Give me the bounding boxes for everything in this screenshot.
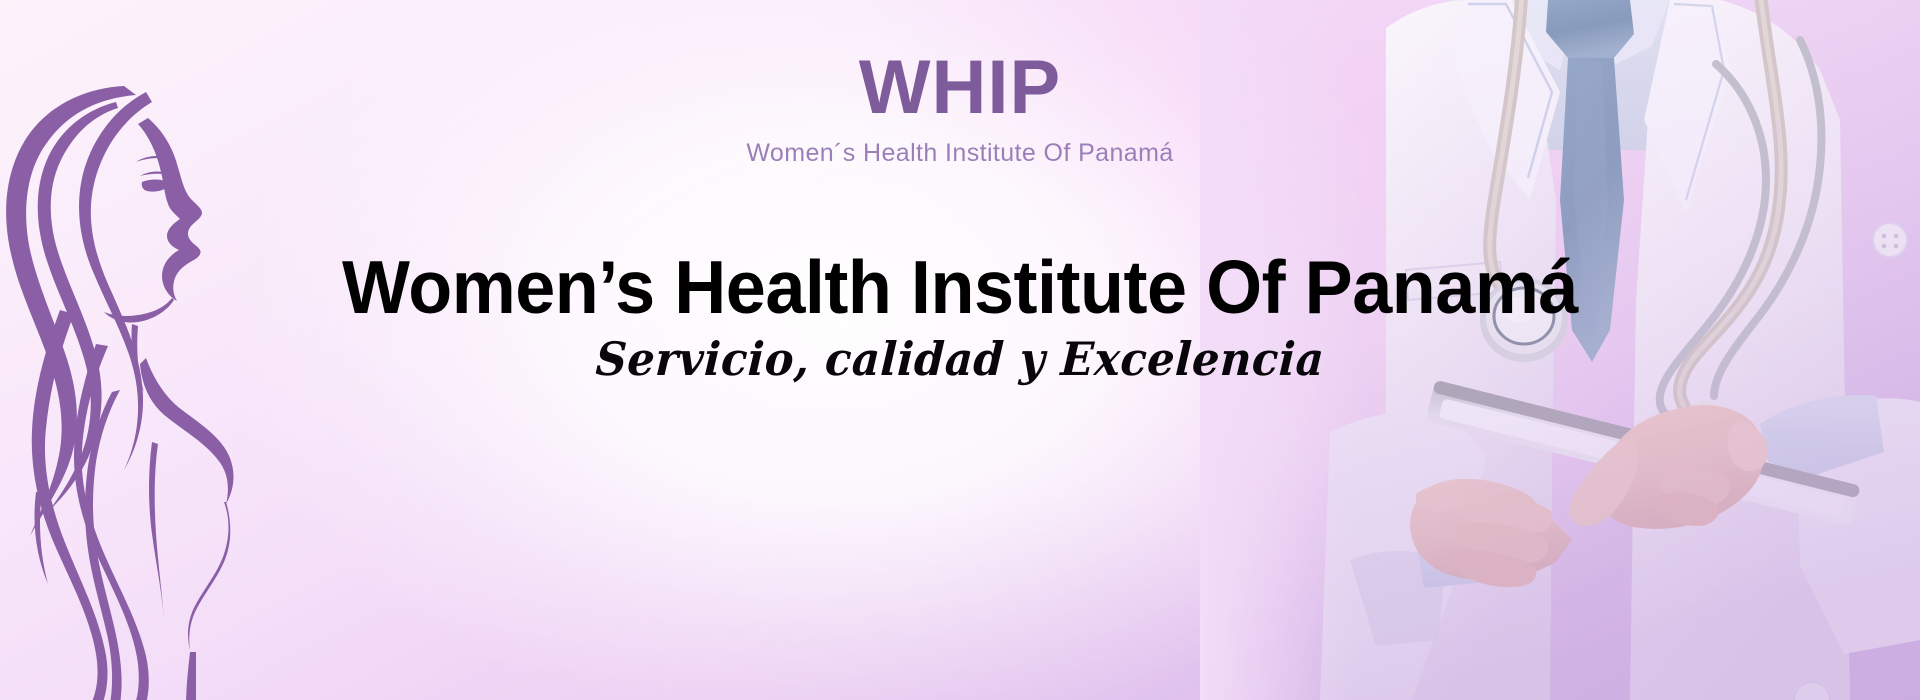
logo-acronym: WHIP: [0, 50, 1920, 126]
hero-subtitle: Servicio, calidad y Excelencia: [56, 334, 1863, 385]
clinic-hero-banner: WHIP Women´s Health Institute Of Panamá …: [0, 0, 1920, 700]
whip-logo: WHIP Women´s Health Institute Of Panamá: [0, 50, 1920, 168]
hero-headline-block: Women’s Health Institute Of Panamá Servi…: [0, 248, 1920, 384]
logo-tagline: Women´s Health Institute Of Panamá: [0, 140, 1920, 168]
page-title: Women’s Health Institute Of Panamá: [38, 248, 1881, 328]
